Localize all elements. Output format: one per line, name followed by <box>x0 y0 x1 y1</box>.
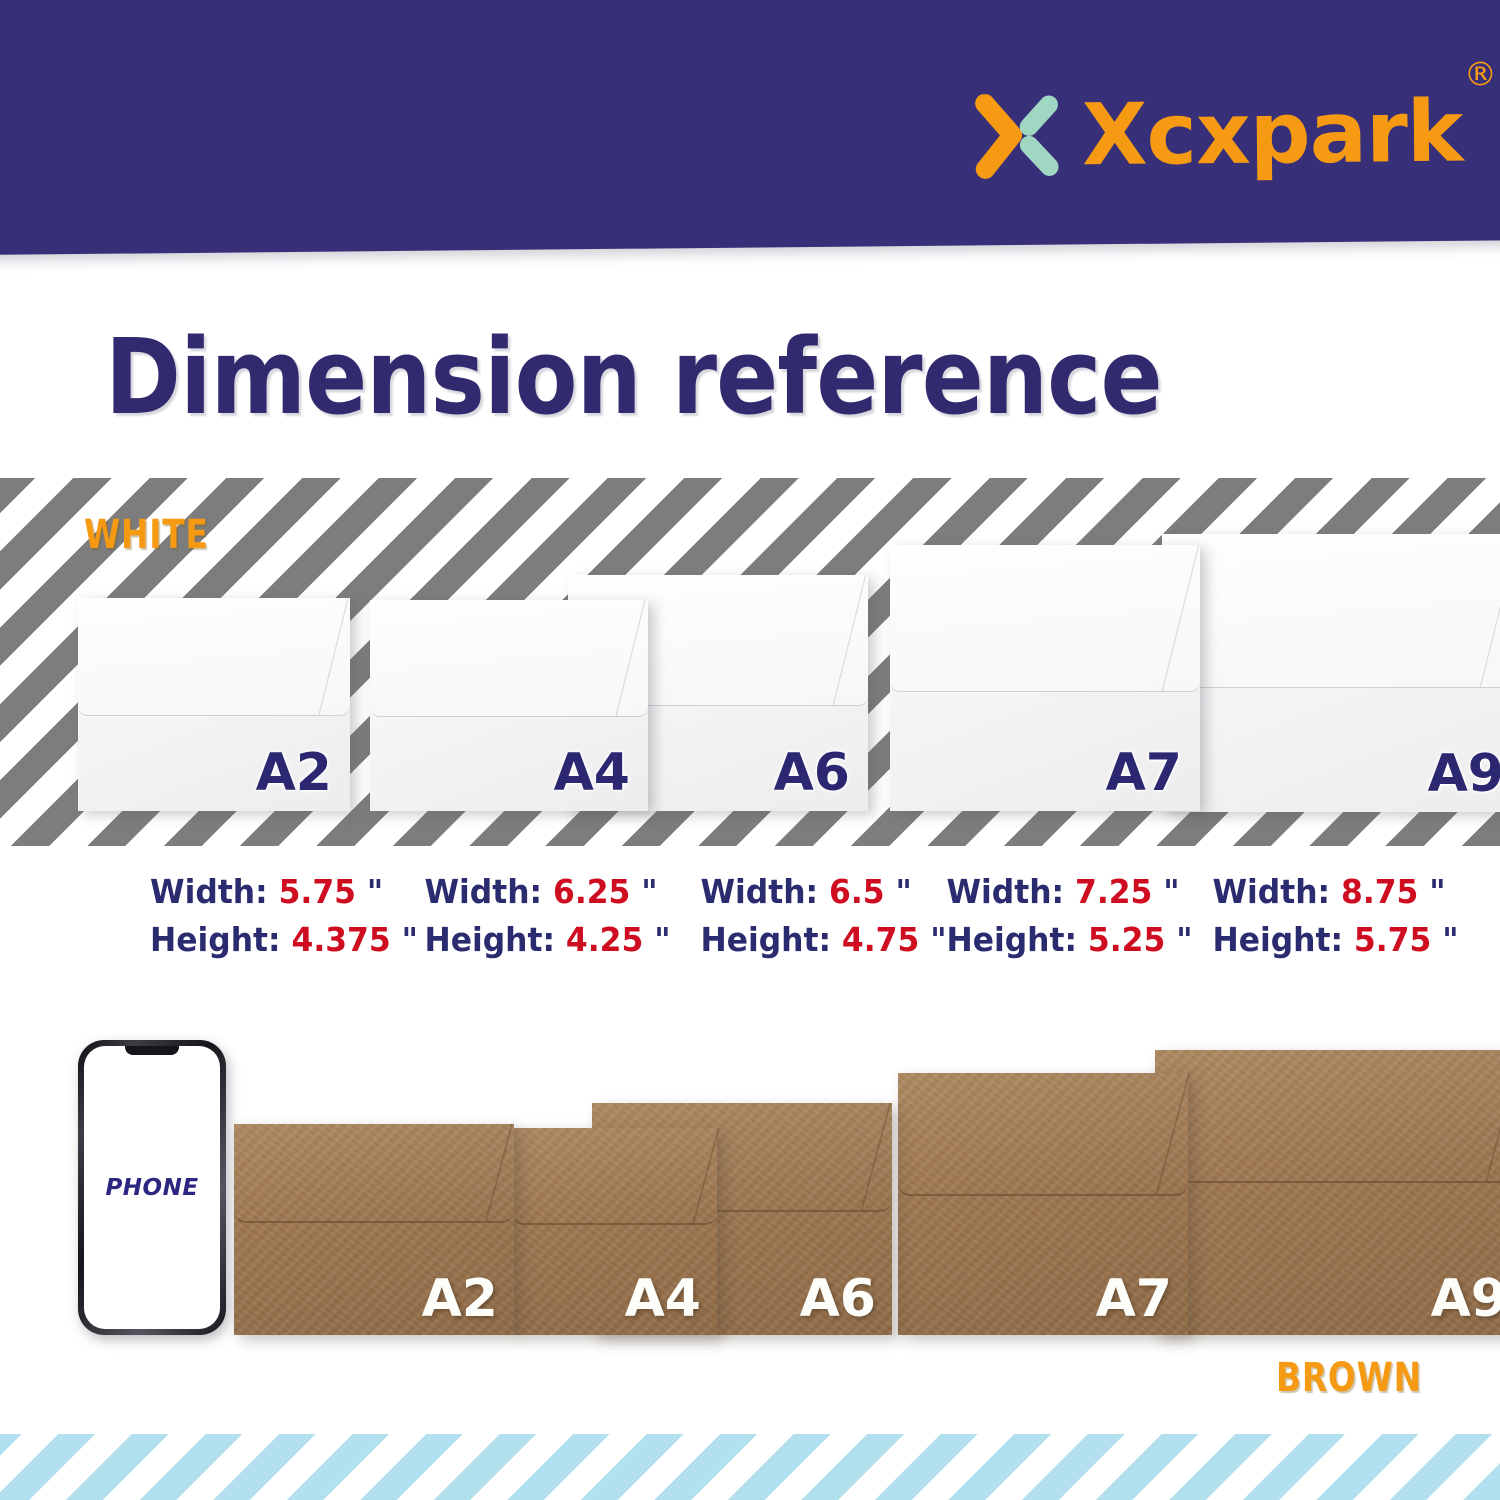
envelope-brown-a7: A7 <box>898 1073 1188 1335</box>
envelope-label: A2 <box>422 1269 498 1329</box>
brown-envelope-row: A9 A7 A6 A4 A2 <box>0 0 1500 1500</box>
envelope-flap <box>234 1124 514 1223</box>
envelope-flap <box>1155 1050 1500 1183</box>
envelope-brown-a2: A2 <box>234 1124 514 1335</box>
envelope-flap <box>898 1073 1188 1196</box>
blue-stripe-footer <box>0 1434 1500 1500</box>
brown-section-label: BROWN <box>1276 1355 1422 1401</box>
infographic-page: Xcxpark ® Dimension reference WHITE A9 A… <box>0 0 1500 1500</box>
envelope-label: A9 <box>1431 1269 1500 1329</box>
envelope-brown-a9: A9 <box>1155 1050 1500 1335</box>
envelope-label: A7 <box>1096 1269 1172 1329</box>
envelope-flap <box>512 1128 717 1225</box>
envelope-label: A6 <box>800 1269 876 1329</box>
envelope-label: A4 <box>625 1269 701 1329</box>
envelope-brown-a4: A4 <box>512 1128 717 1335</box>
